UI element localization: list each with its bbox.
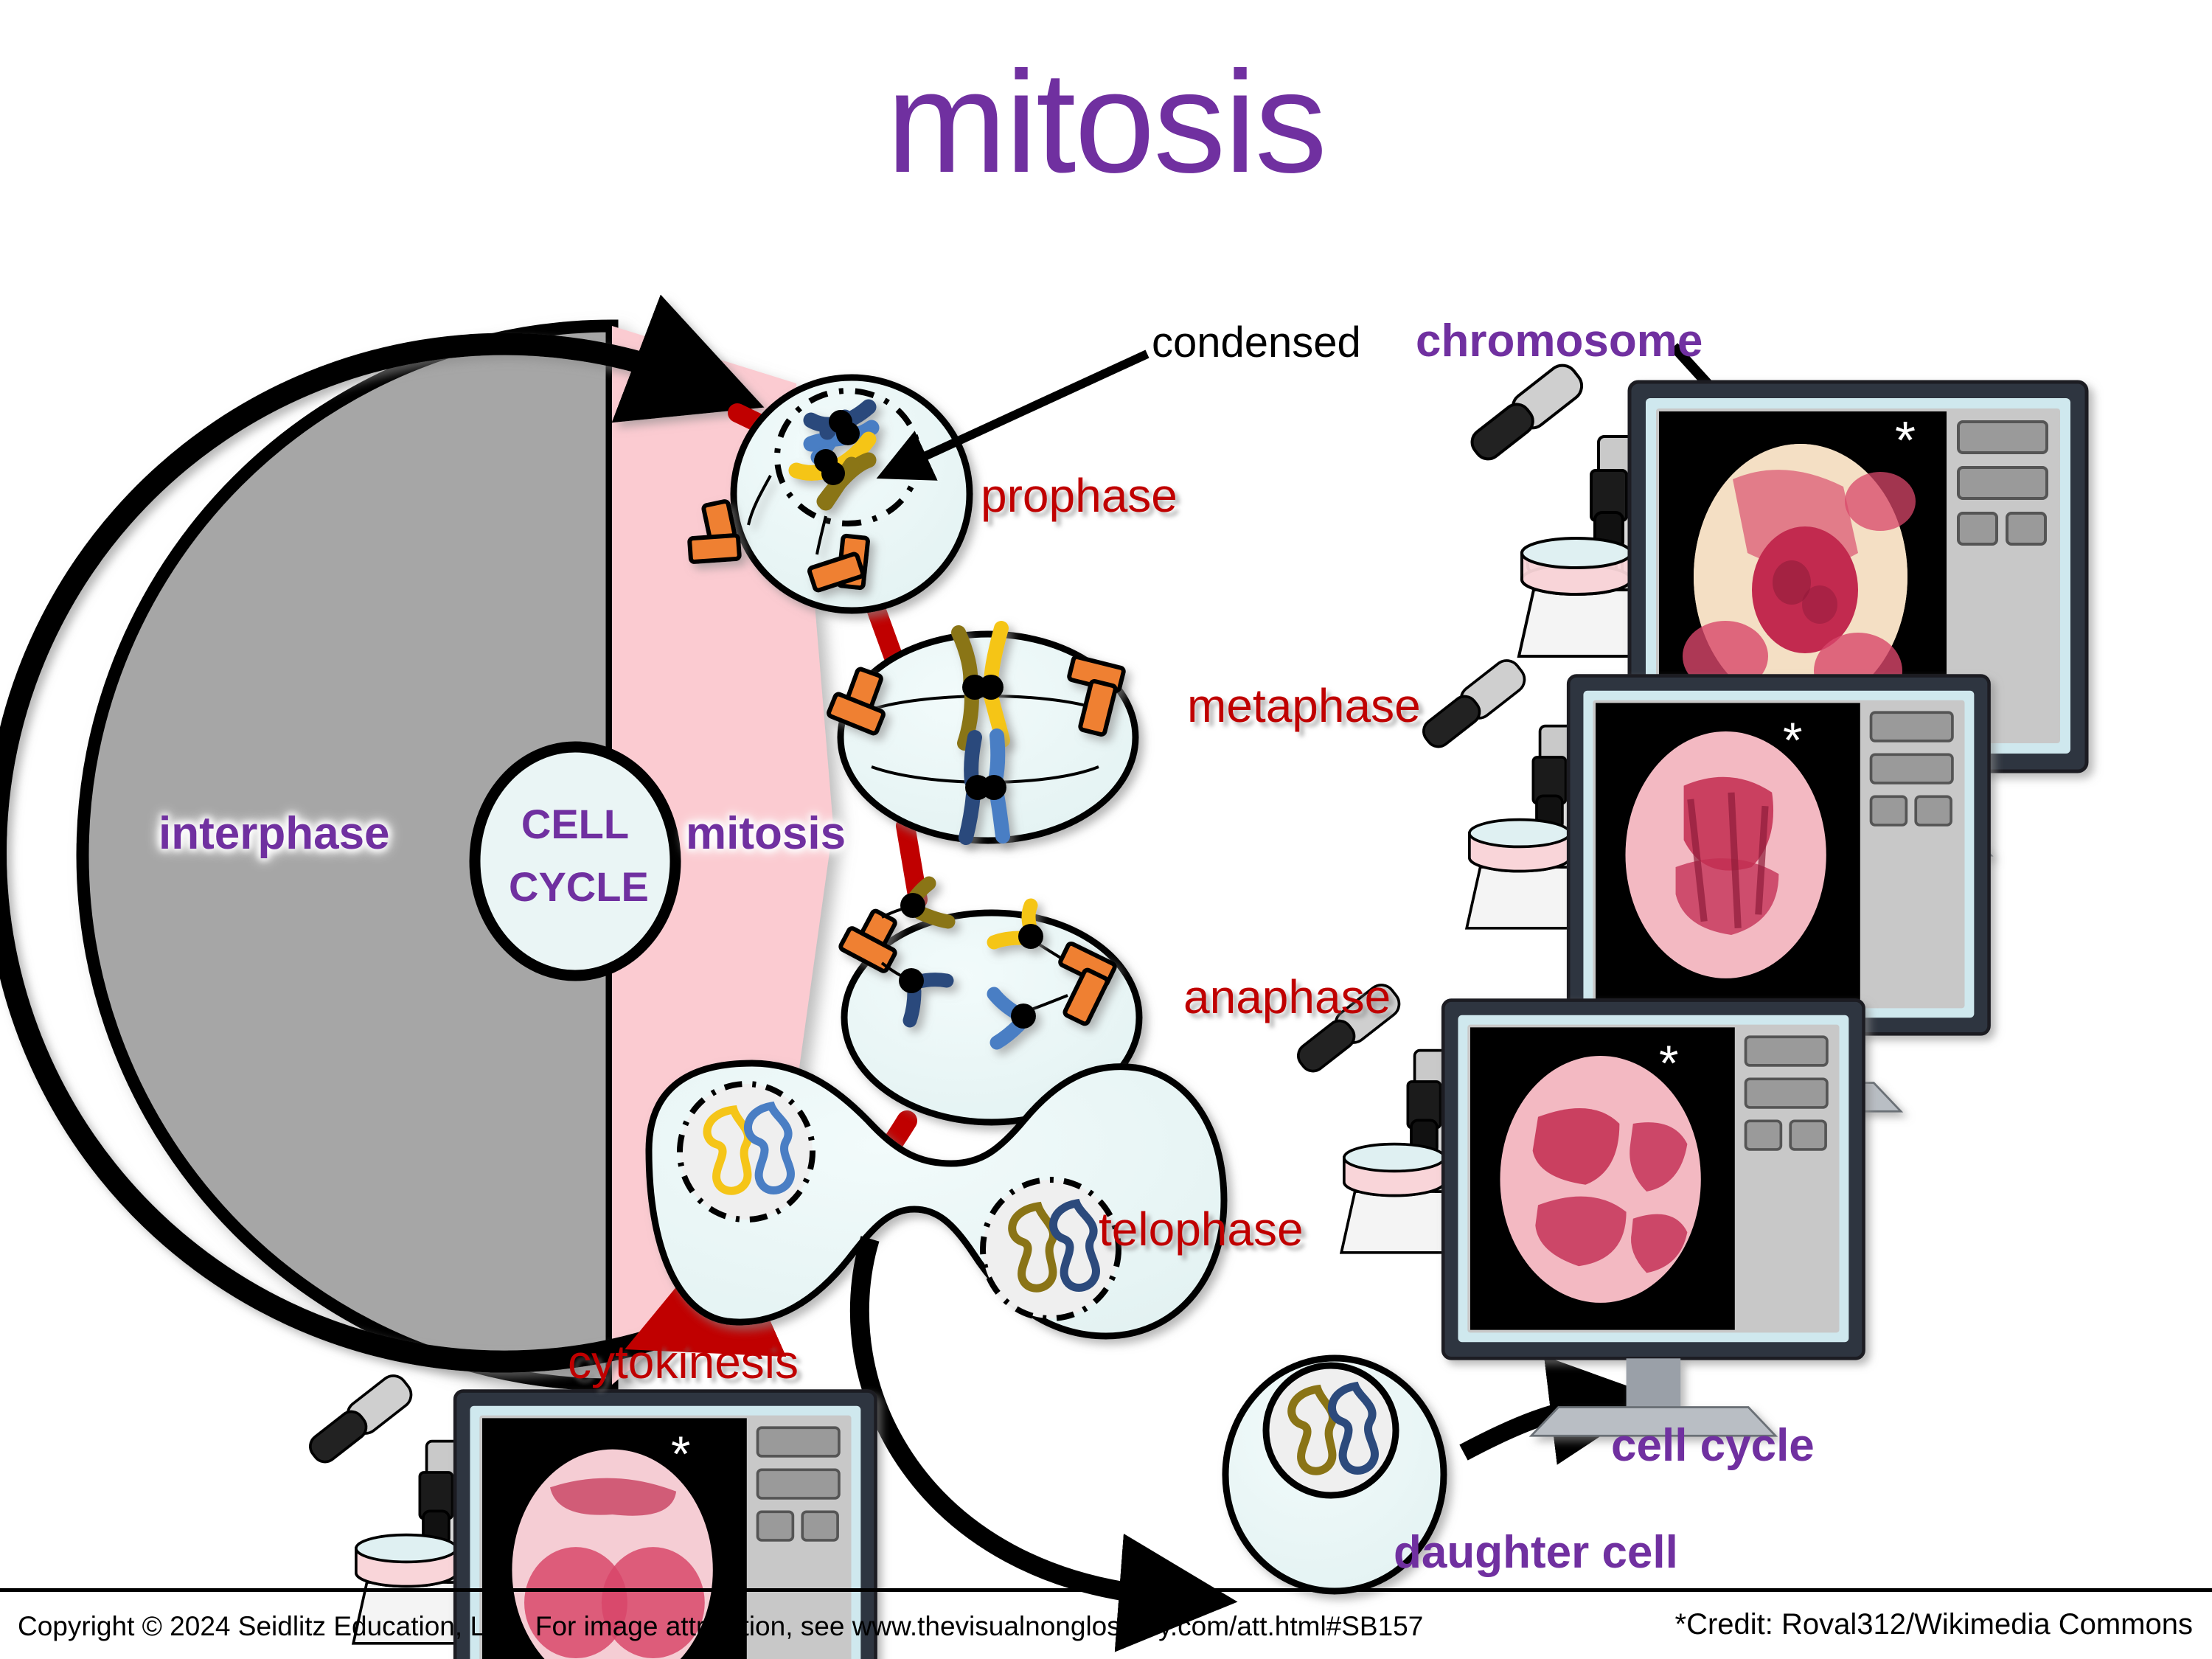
metaphase-label: metaphase — [1187, 682, 1421, 729]
interphase-label: interphase — [159, 811, 390, 857]
condensed-label: condensed — [1152, 321, 1361, 364]
anaphase-centriole-left — [840, 910, 897, 973]
asterisk-prophase: * — [1895, 414, 1916, 467]
cell-cycle-center-line2: CYCLE — [509, 866, 641, 908]
copyright-text: Copyright © 2024 Seidlitz Education, LLC… — [18, 1611, 1423, 1642]
asterisk-metaphase: * — [1783, 715, 1802, 765]
cell-cycle-center-oval — [475, 747, 675, 975]
metaphase-cell — [828, 628, 1135, 841]
prophase-label: prophase — [981, 472, 1178, 519]
anaphase-label: anaphase — [1183, 973, 1391, 1020]
daughter-cell-label: daughter cell — [1394, 1530, 1678, 1576]
micrograph-anaphase — [1500, 1056, 1700, 1303]
chromosome-callout-arrow — [907, 354, 1147, 465]
page-title: mitosis — [0, 50, 2212, 195]
monitor-icon — [1443, 1001, 1863, 1436]
telophase-label: telophase — [1099, 1206, 1304, 1253]
mitosis-wedge-label: mitosis — [686, 811, 846, 857]
credit-text: *Credit: Roval312/Wikimedia Commons — [1675, 1608, 2193, 1641]
footer-bar: Copyright © 2024 Seidlitz Education, LLC… — [0, 1588, 2212, 1659]
cytokinesis-label: cytokinesis — [568, 1338, 799, 1385]
diagram-canvas: mitosis condensed chromosome prophase me… — [0, 0, 2212, 1659]
chromosome-label: chromosome — [1416, 319, 1703, 364]
cell-cycle-center-line1: CELL — [516, 804, 634, 845]
asterisk-anaphase: * — [1659, 1038, 1678, 1088]
asterisk-cytokinesis: * — [671, 1429, 690, 1479]
cell-cycle-right-label: cell cycle — [1611, 1423, 1815, 1469]
micrograph-metaphase — [1625, 731, 1826, 978]
